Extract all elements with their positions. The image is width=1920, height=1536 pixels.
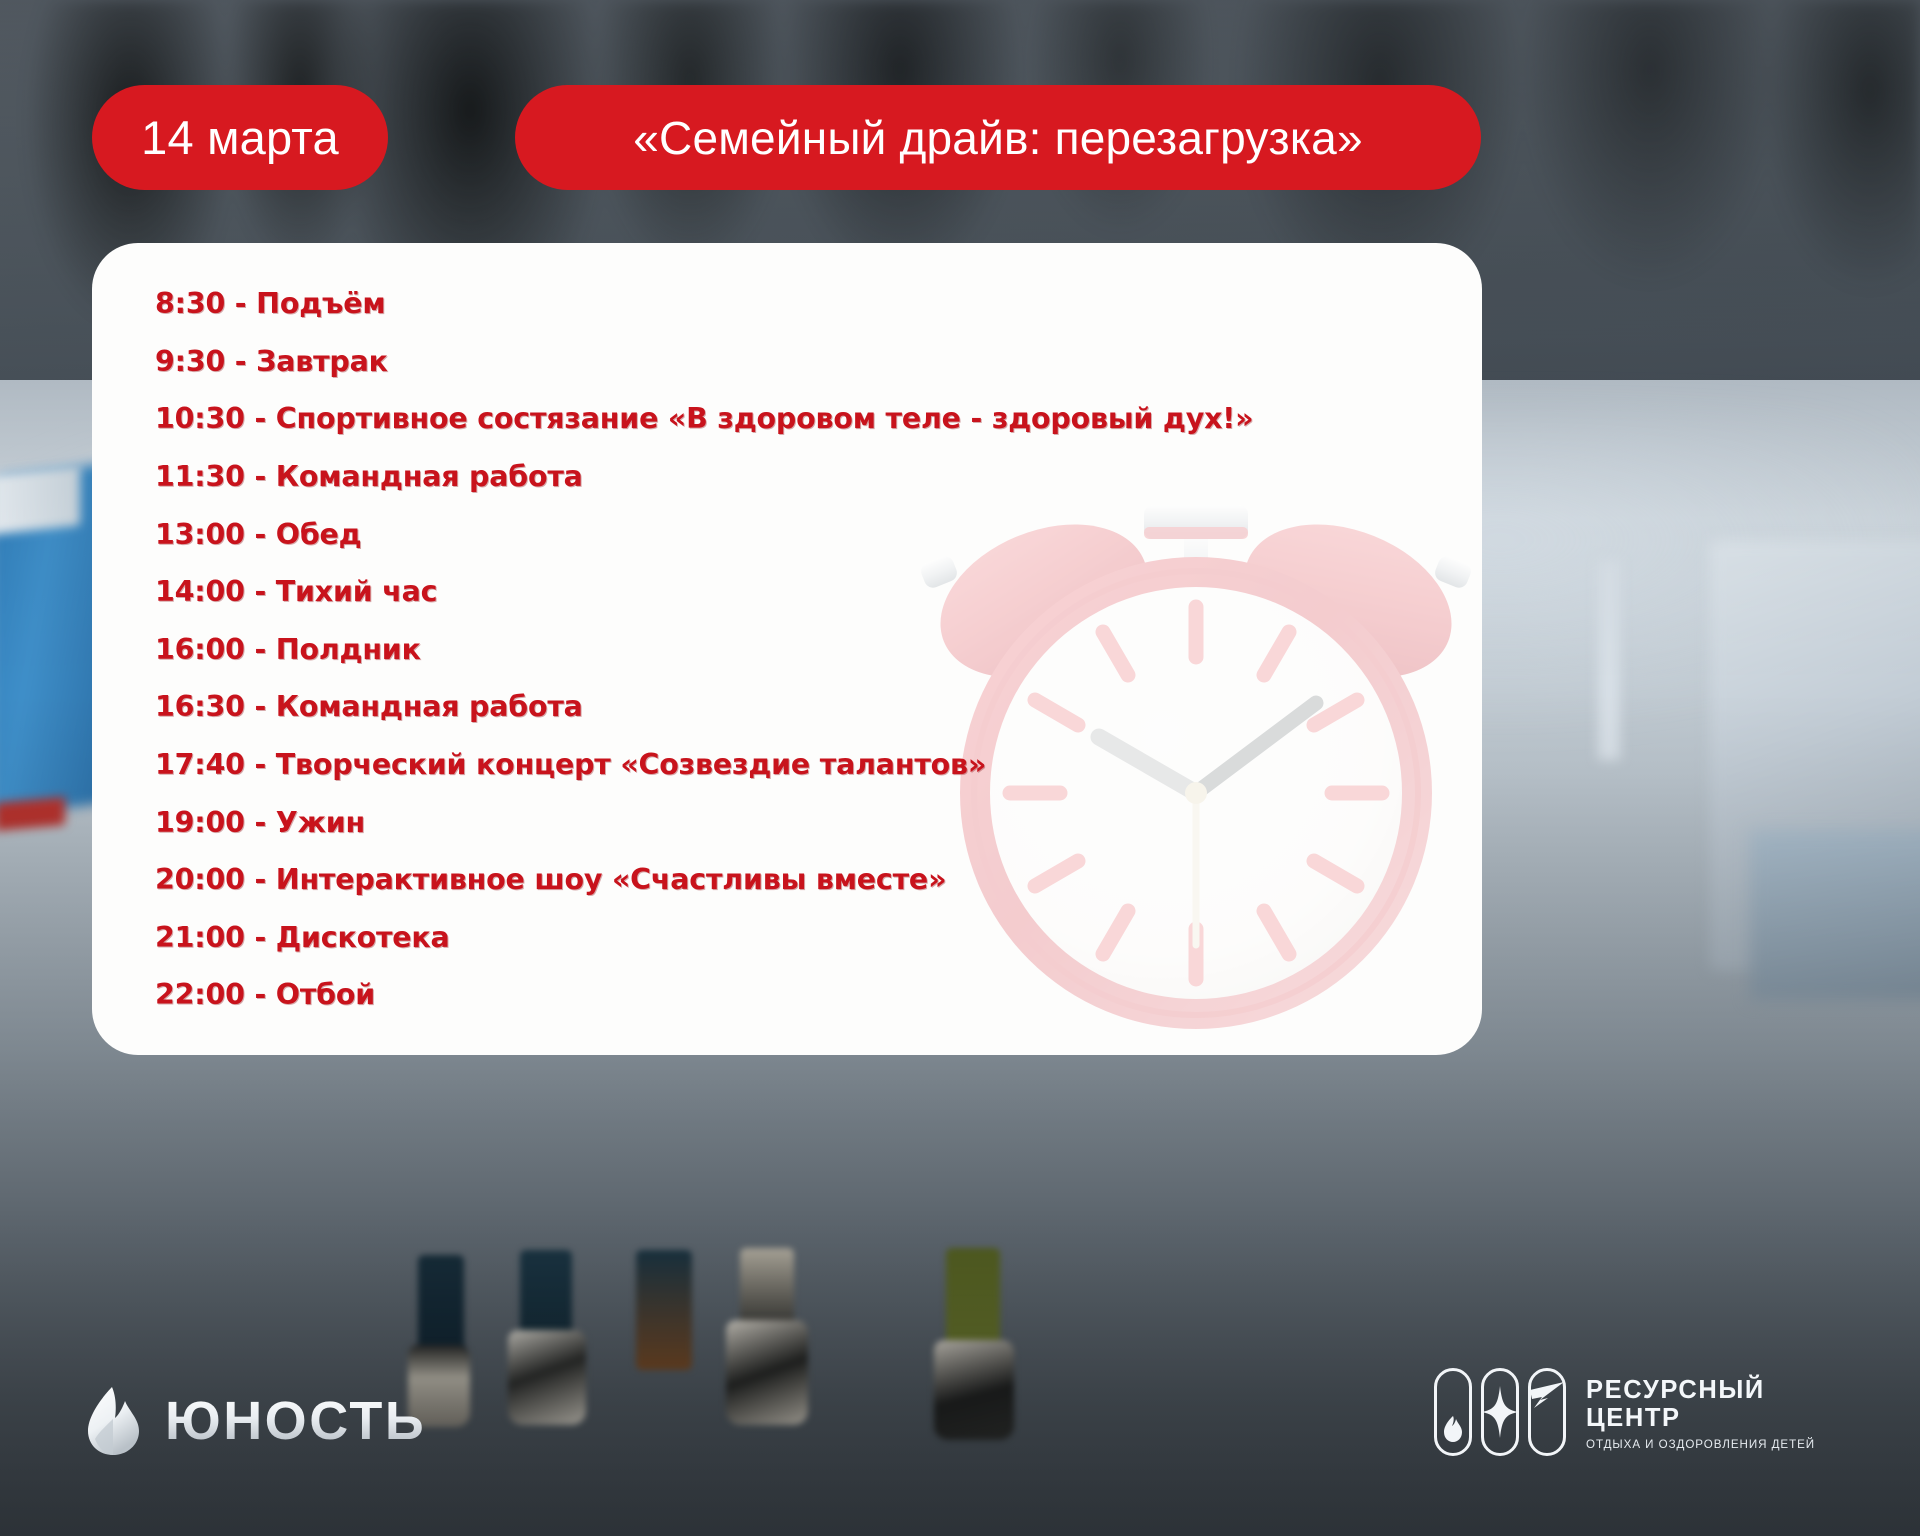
date-pill: 14 марта [92,85,388,190]
schedule-row-text: 9:30 - Завтрак [155,345,388,378]
yunost-logo: ЮНОСТЬ [85,1385,426,1457]
schedule-row-text: 20:00 - Интерактивное шоу «Счастливы вме… [155,863,946,896]
schedule-row-text: 10:30 - Спортивное состязание «В здорово… [155,402,1253,435]
schedule-row: 22:00 - Отбой [155,966,1462,1024]
resource-center-line2: ЦЕНТР [1586,1405,1815,1433]
schedule-row: 19:00 - Ужин [155,793,1462,851]
resource-center-subtitle: ОТДЫХА И ОЗДОРОВЛЕНИЯ ДЕТЕЙ [1586,1438,1815,1451]
schedule-row-text: 13:00 - Обед [155,518,361,551]
schedule-row-text: 22:00 - Отбой [155,978,375,1011]
schedule-row: 10:30 - Спортивное состязание «В здорово… [155,390,1462,448]
schedule-row: 11:30 - Командная работа [155,448,1462,506]
resource-center-icon-group [1434,1368,1566,1456]
schedule-row: 17:40 - Творческий концерт «Созвездие та… [155,736,1462,794]
schedule-list: 8:30 - Подъём 9:30 - Завтрак 10:30 - Спо… [155,275,1462,1024]
schedule-row: 8:30 - Подъём [155,275,1462,333]
schedule-row-text: 21:00 - Дискотека [155,921,450,954]
schedule-row: 16:00 - Полдник [155,621,1462,679]
resource-center-text: РЕСУРСНЫЙ ЦЕНТР ОТДЫХА И ОЗДОРОВЛЕНИЯ ДЕ… [1586,1373,1815,1451]
schedule-row-text: 14:00 - Тихий час [155,575,437,608]
schedule-row-text: 19:00 - Ужин [155,806,365,839]
schedule-row: 21:00 - Дискотека [155,909,1462,967]
schedule-row-text: 17:40 - Творческий концерт «Созвездие та… [155,748,986,781]
flame-drop-icon [85,1385,143,1457]
yunost-wordmark: ЮНОСТЬ [165,1390,426,1452]
schedule-card: 8:30 - Подъём 9:30 - Завтрак 10:30 - Спо… [92,243,1482,1055]
date-pill-label: 14 марта [141,110,339,165]
flame-icon [1434,1368,1472,1456]
schedule-row: 20:00 - Интерактивное шоу «Счастливы вме… [155,851,1462,909]
schedule-row: 16:30 - Командная работа [155,678,1462,736]
schedule-row-text: 11:30 - Командная работа [155,460,583,493]
bird-arrow-icon [1528,1368,1566,1456]
schedule-row: 9:30 - Завтрак [155,333,1462,391]
schedule-row-text: 8:30 - Подъём [155,287,385,320]
schedule-row-text: 16:00 - Полдник [155,633,421,666]
four-point-star-icon [1481,1368,1519,1456]
schedule-row: 13:00 - Обед [155,505,1462,563]
event-title-label: «Семейный драйв: перезагрузка» [633,111,1363,165]
resource-center-logo: РЕСУРСНЫЙ ЦЕНТР ОТДЫХА И ОЗДОРОВЛЕНИЯ ДЕ… [1434,1368,1815,1456]
event-title-pill: «Семейный драйв: перезагрузка» [515,85,1481,190]
resource-center-line1: РЕСУРСНЫЙ [1586,1377,1815,1405]
schedule-row-text: 16:30 - Командная работа [155,690,583,723]
schedule-row: 14:00 - Тихий час [155,563,1462,621]
